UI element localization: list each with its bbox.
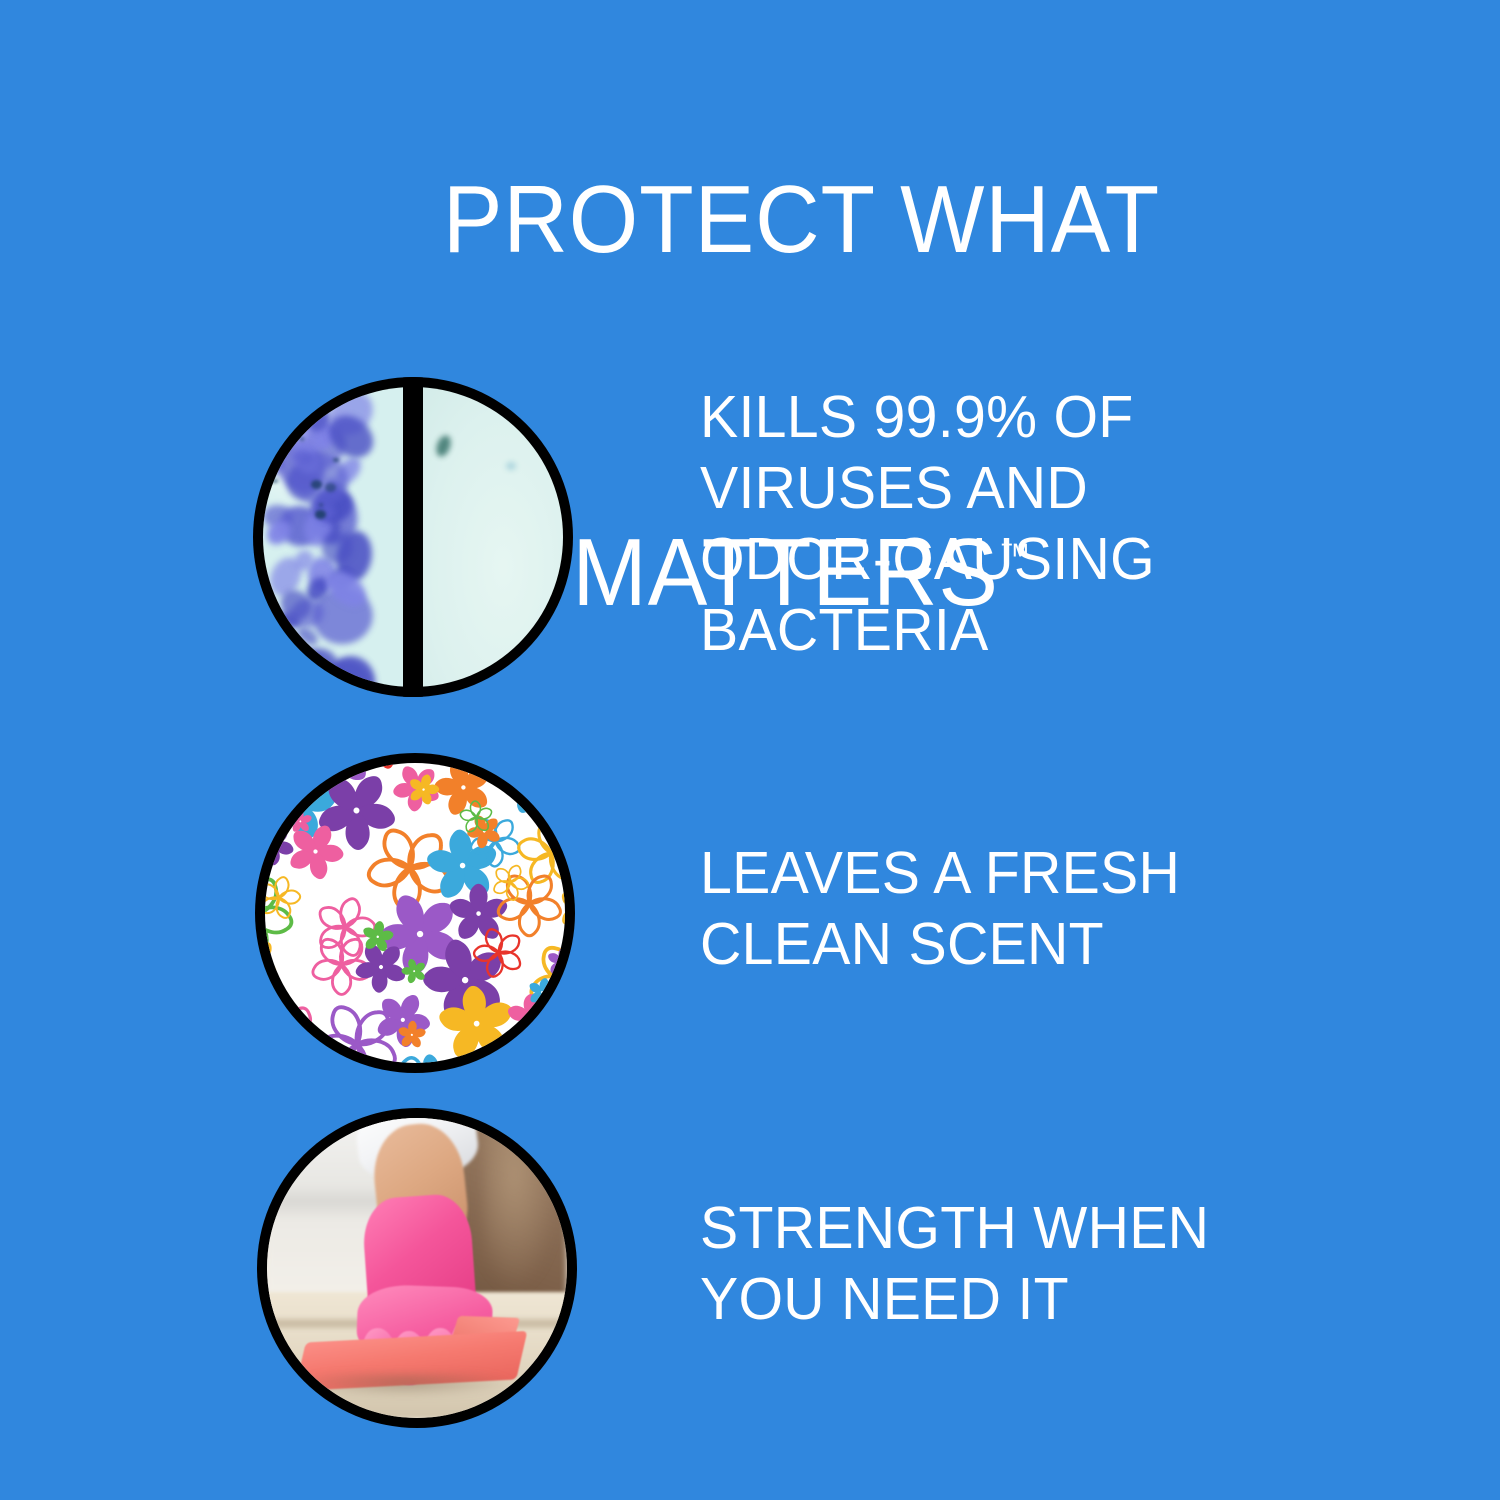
colorful-flower-pattern-image xyxy=(255,753,575,1073)
benefit-text-kills-germs: KILLS 99.9% OF VIRUSES AND ODOR-CAUSING … xyxy=(700,382,1214,666)
headline-line-1: PROTECT WHAT xyxy=(443,166,1160,273)
germ-speck-residual xyxy=(434,433,454,458)
germ-speck xyxy=(283,658,289,663)
germ-speck xyxy=(315,510,325,518)
germ-speck xyxy=(300,437,304,440)
cleaning-photo-illustration xyxy=(267,1118,567,1418)
germ-speck-residual xyxy=(506,462,516,470)
gloved-hand-wiping-counter-photo xyxy=(257,1108,577,1428)
germ-speck xyxy=(328,397,339,406)
germ-speck xyxy=(333,458,339,463)
flower-icon xyxy=(395,1018,429,1052)
flower-icon xyxy=(358,916,399,957)
benefit-text-strength: STRENGTH WHEN YOU NEED IT xyxy=(700,1193,1229,1335)
germ-speck xyxy=(280,416,290,424)
germ-comparison-microscope-image xyxy=(253,377,573,697)
benefit-text-fresh-scent: LEAVES A FRESH CLEAN SCENT xyxy=(700,838,1214,980)
germ-speck xyxy=(319,503,323,507)
germ-divider-bar xyxy=(403,377,423,697)
infographic-canvas: PROTECT WHAT MATTERS™ KILLS 99.9% OF VIR… xyxy=(0,0,1500,1500)
germ-speck xyxy=(311,480,322,489)
germ-speck xyxy=(265,678,276,687)
germ-speck xyxy=(285,427,295,435)
flower-pattern-illustration xyxy=(265,763,565,1063)
germ-speck xyxy=(293,657,300,663)
